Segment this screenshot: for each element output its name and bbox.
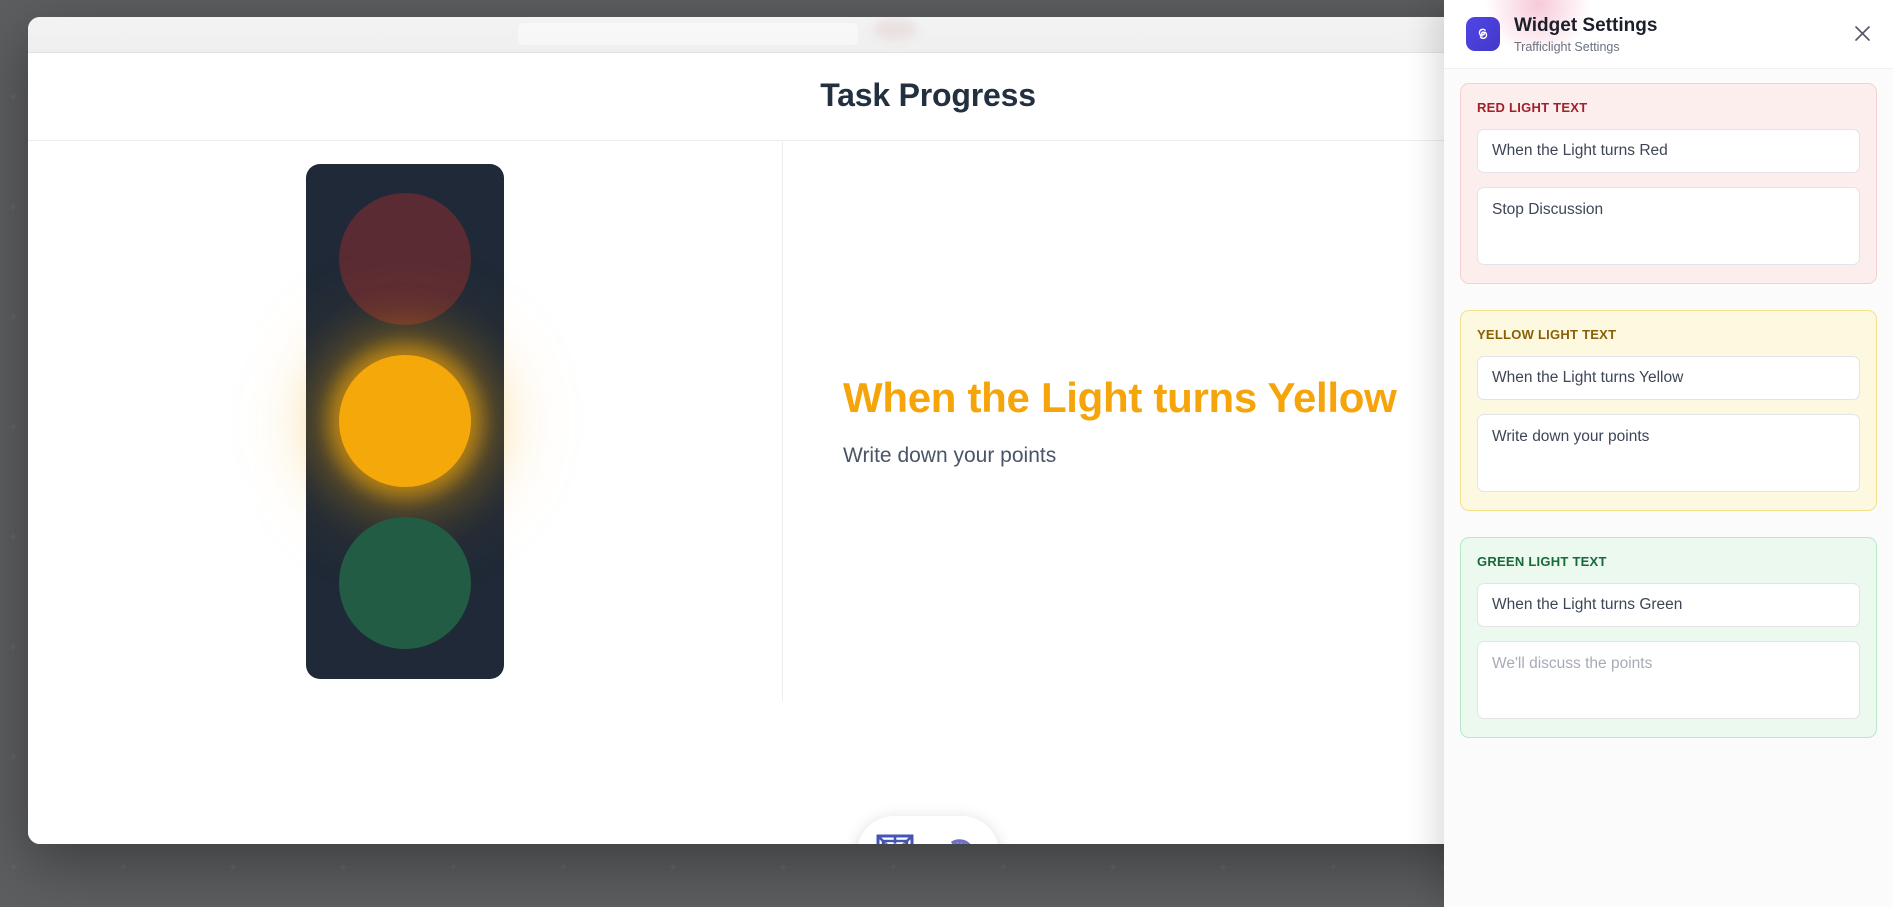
- yellow-headline-input[interactable]: [1477, 356, 1860, 400]
- section-red-light: RED LIGHT TEXT: [1460, 83, 1877, 284]
- titlebar-tab-placeholder: [518, 23, 858, 45]
- section-green-light: GREEN LIGHT TEXT: [1460, 537, 1877, 738]
- section-label-yellow: YELLOW LIGHT TEXT: [1477, 327, 1860, 342]
- section-label-green: GREEN LIGHT TEXT: [1477, 554, 1860, 569]
- swirl-icon: [1466, 17, 1500, 51]
- trafficlight-lamp-yellow[interactable]: [339, 355, 471, 487]
- panel-header-text: Widget Settings Trafficlight Settings: [1514, 14, 1657, 54]
- panel-header: Widget Settings Trafficlight Settings: [1444, 0, 1893, 69]
- kaleidoscope-icon[interactable]: [875, 833, 915, 844]
- pencil-circle-icon[interactable]: [941, 833, 981, 844]
- section-label-red: RED LIGHT TEXT: [1477, 100, 1860, 115]
- panel-subtitle: Trafficlight Settings: [1514, 40, 1657, 54]
- close-icon[interactable]: [1849, 20, 1875, 46]
- red-body-input[interactable]: [1477, 187, 1860, 265]
- red-headline-input[interactable]: [1477, 129, 1860, 173]
- trafficlight-lamp-red[interactable]: [339, 193, 471, 325]
- widget-settings-panel: Widget Settings Trafficlight Settings RE…: [1444, 0, 1893, 907]
- titlebar-accent-blur: [873, 19, 917, 39]
- green-headline-input[interactable]: [1477, 583, 1860, 627]
- section-yellow-light: YELLOW LIGHT TEXT: [1460, 310, 1877, 511]
- yellow-body-input[interactable]: [1477, 414, 1860, 492]
- trafficlight-pane: [28, 141, 783, 701]
- trafficlight-graphic[interactable]: [306, 164, 504, 679]
- trafficlight-lamp-green[interactable]: [339, 517, 471, 649]
- panel-title: Widget Settings: [1514, 14, 1657, 38]
- green-body-input[interactable]: [1477, 641, 1860, 719]
- floating-toolbar: [857, 816, 999, 844]
- panel-scroll-body[interactable]: RED LIGHT TEXT YELLOW LIGHT TEXT GREEN L…: [1444, 69, 1893, 907]
